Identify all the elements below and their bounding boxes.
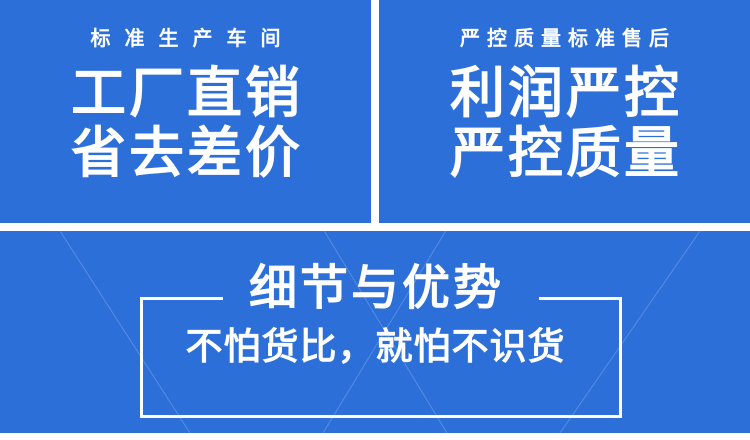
- bottom-title: 细节与优势: [0, 265, 750, 313]
- panel-details-advantages: 细节与优势 不怕货比，就怕不识货: [0, 231, 750, 433]
- top-panel-row: 标准生产车间 工厂直销 省去差价 严控质量标准售后 利润严控 严控质量: [0, 0, 750, 223]
- panel-headline-quality-control: 严控质量: [447, 125, 682, 182]
- panel-kicker-standard-workshop: 标准生产车间: [77, 29, 295, 49]
- panel-quality-control: 严控质量标准售后 利润严控 严控质量: [379, 0, 750, 223]
- promo-banner: 标准生产车间 工厂直销 省去差价 严控质量标准售后 利润严控 严控质量 细节与优…: [0, 0, 750, 440]
- panel-headline-factory-direct: 工厂直销: [68, 65, 303, 122]
- panel-kicker-quality-aftersales: 严控质量标准售后: [453, 29, 676, 49]
- panel-headline-profit-control: 利润严控: [447, 65, 682, 122]
- bottom-subtitle: 不怕货比，就怕不识货: [0, 328, 750, 365]
- panel-factory-direct: 标准生产车间 工厂直销 省去差价: [0, 0, 371, 223]
- panel-headline-save-markup: 省去差价: [68, 125, 303, 182]
